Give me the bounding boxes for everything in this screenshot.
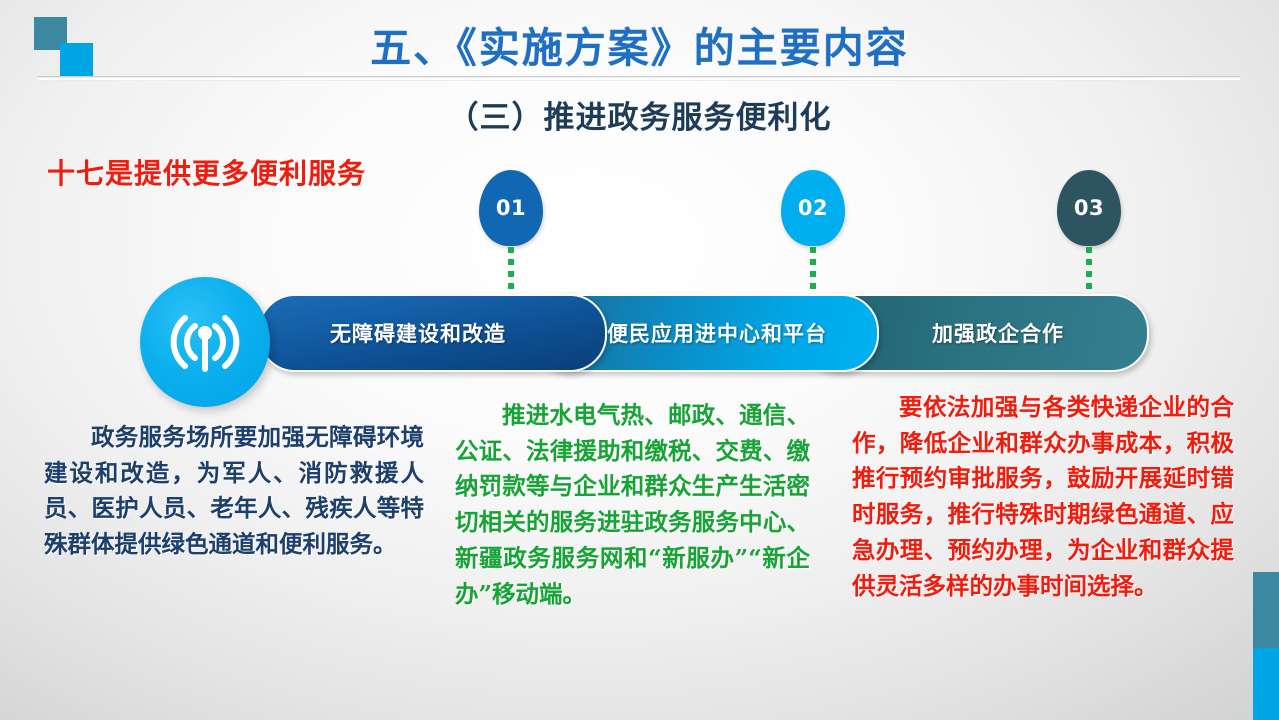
- broadcast-signal-icon: [163, 300, 247, 384]
- decor-block-teal-bottom-right: [1253, 572, 1279, 648]
- process-bar-03-label: 加强政企合作: [932, 318, 1064, 348]
- process-lead-icon-circle: [140, 277, 270, 407]
- page-subtitle: （三）推进政务服务便利化: [0, 92, 1279, 137]
- decor-block-cyan-bottom-right: [1253, 648, 1279, 720]
- process-bar-01: 无障碍建设和改造: [258, 294, 607, 372]
- section-heading: 十七是提供更多便利服务: [47, 152, 366, 192]
- slide-canvas: 五、《实施方案》的主要内容 （三）推进政务服务便利化 十七是提供更多便利服务 0…: [0, 0, 1279, 720]
- process-bar-01-label: 无障碍建设和改造: [330, 318, 506, 348]
- step-pin-01: 01: [479, 170, 543, 246]
- page-title: 五、《实施方案》的主要内容: [0, 14, 1279, 74]
- body-column-2: 推进水电气热、邮政、通信、公证、法律援助和缴税、交费、缴纳罚款等与企业和群众生产…: [455, 398, 810, 612]
- connector-dots-02: [810, 247, 816, 297]
- header-divider: [37, 76, 1240, 81]
- process-bar-02-label: 便民应用进中心和平台: [607, 318, 827, 348]
- step-pin-03: 03: [1057, 170, 1121, 246]
- body-column-3: 要依法加强与各类快递企业的合作，降低企业和群众办事成本，积极推行预约审批服务，鼓…: [852, 390, 1234, 604]
- step-pin-02: 02: [781, 170, 845, 246]
- body-column-1: 政务服务场所要加强无障碍环境建设和改造，为军人、消防救援人员、医护人员、老年人、…: [44, 420, 424, 563]
